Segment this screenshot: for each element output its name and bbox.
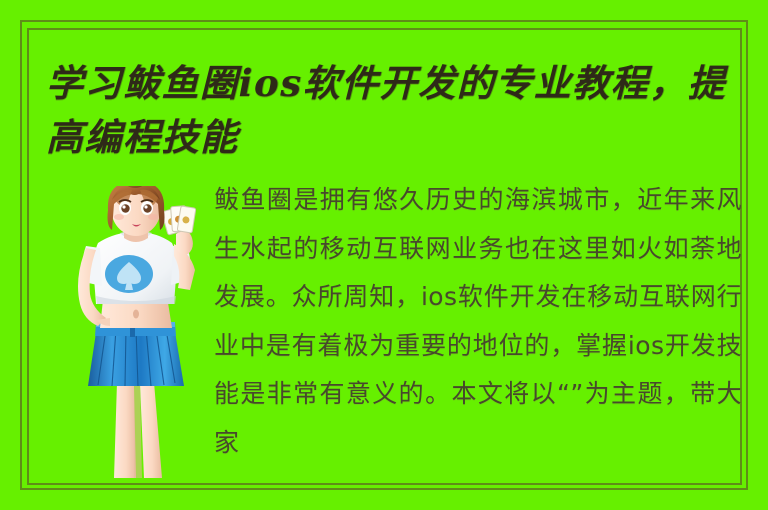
page-title: 学习鲅鱼圈ios软件开发的专业教程，提高编程技能 [46,56,736,164]
head [108,186,165,236]
article-body-text: 鲅鱼圈是拥有悠久历史的海滨城市，近年来风生水起的移动互联网业务也在这里如火如荼地… [214,176,742,467]
legs [114,382,162,478]
anime-girl-illustration [62,186,212,481]
pleated-skirt [88,322,184,386]
spade-logo [105,255,153,293]
poster-canvas: 学习鲅鱼圈ios软件开发的专业教程，提高编程技能 鲅鱼圈是拥有悠久历史的海滨城市… [0,0,768,510]
playing-cards [162,206,196,235]
